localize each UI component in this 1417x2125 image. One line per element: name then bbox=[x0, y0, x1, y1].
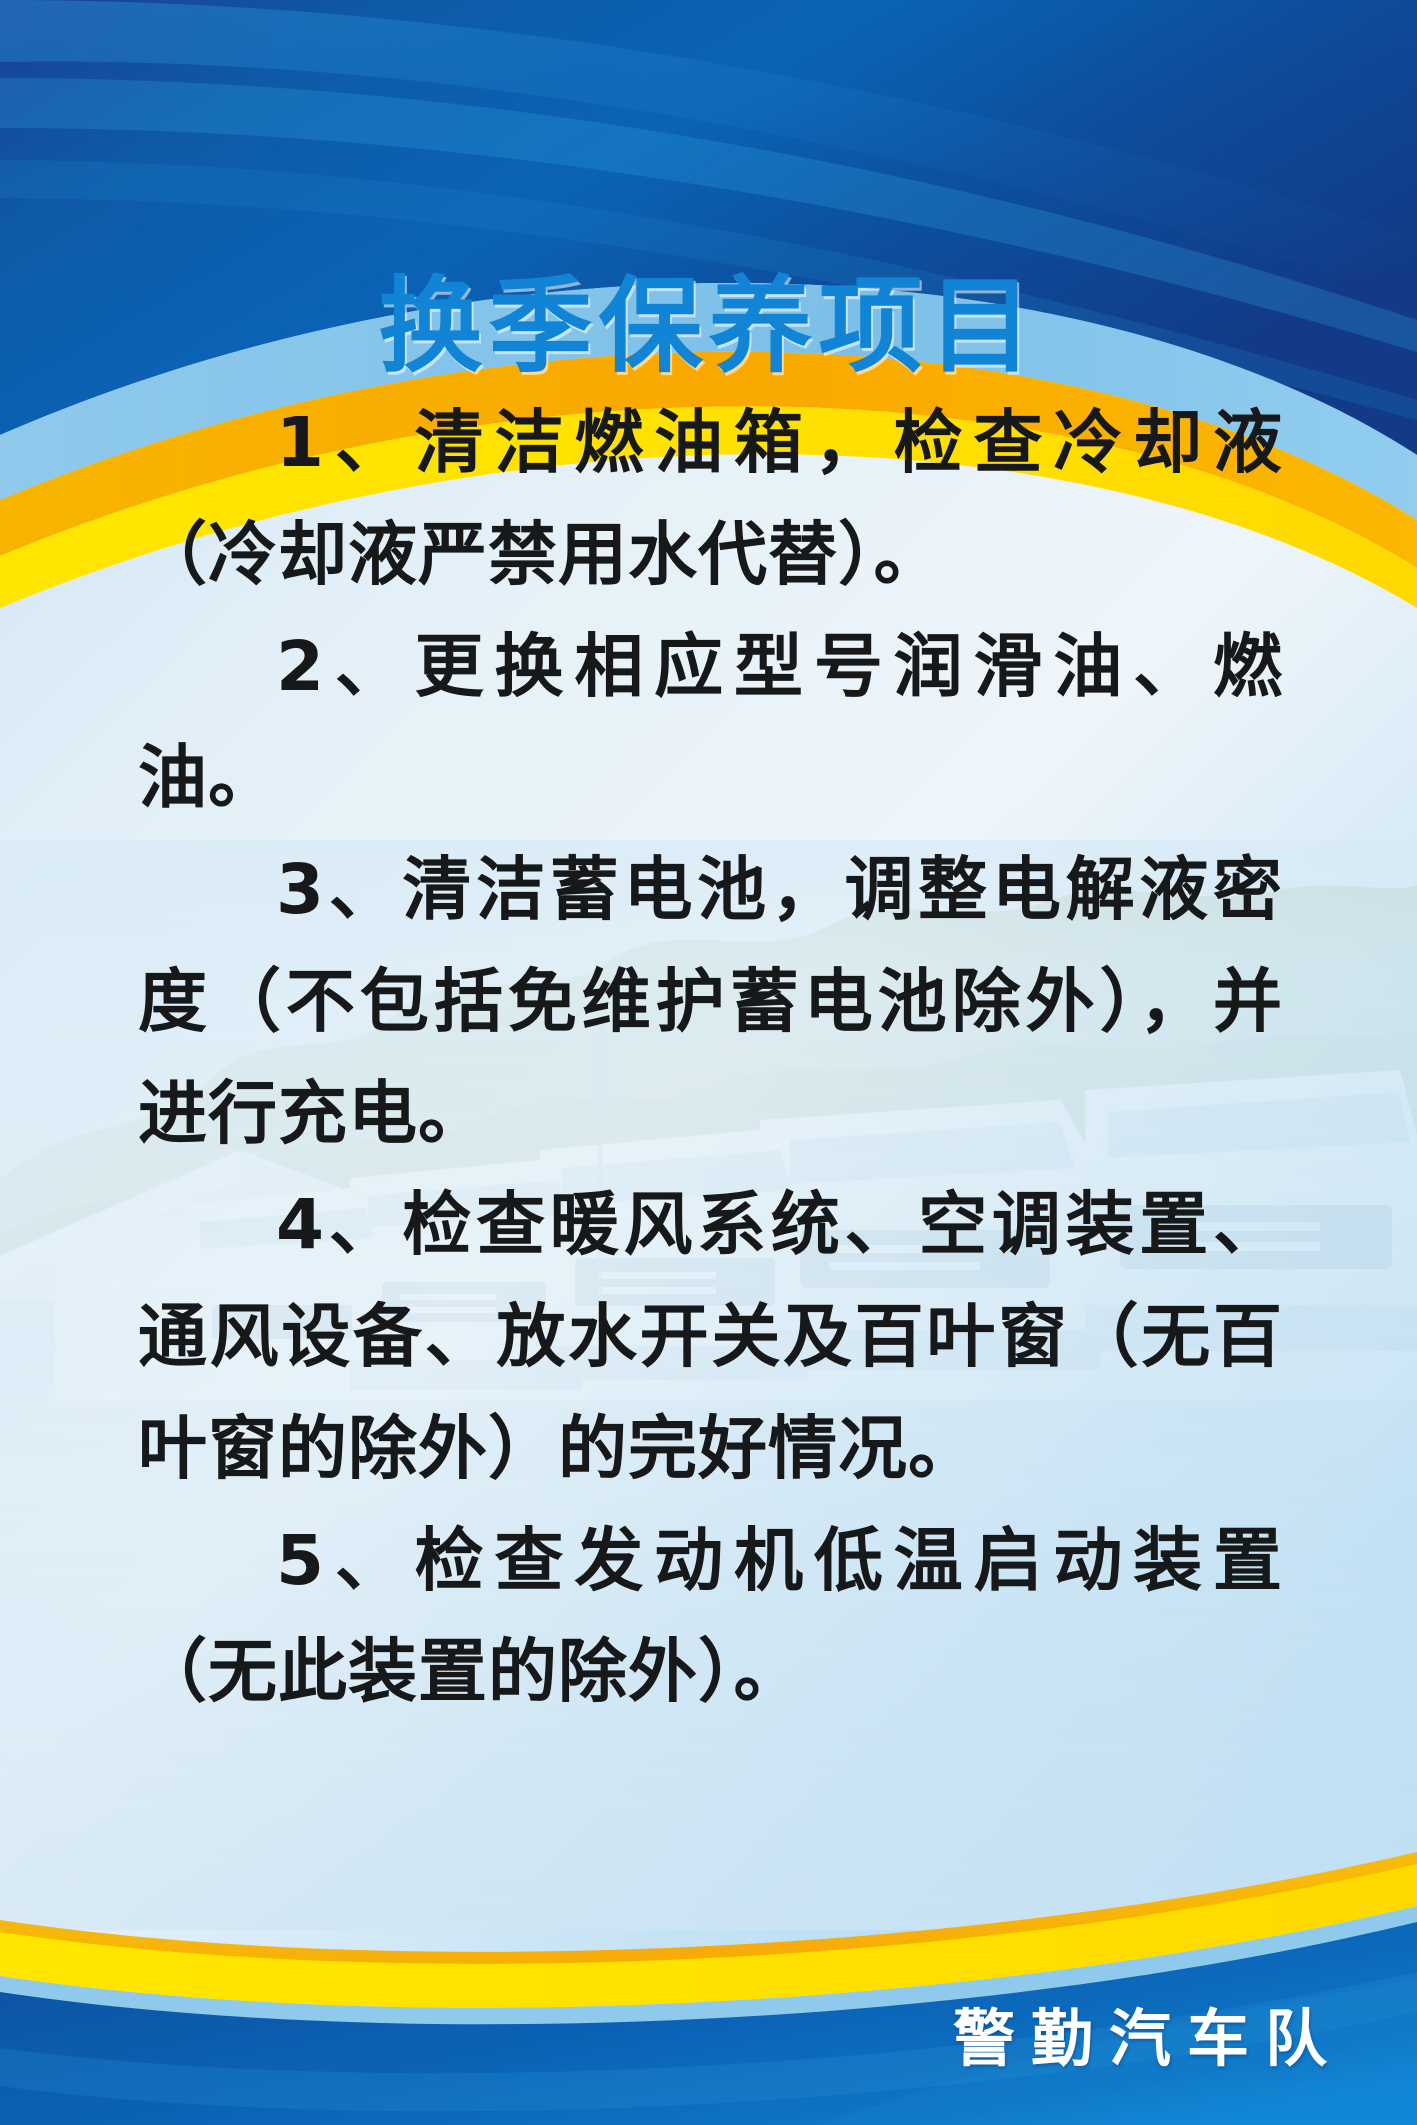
maintenance-item-list: 1、清洁燃油箱，检查冷却液（冷却液严禁用水代替）。 2、更换相应型号润滑油、燃油… bbox=[138, 388, 1283, 1729]
list-item: 1、清洁燃油箱，检查冷却液（冷却液严禁用水代替）。 bbox=[138, 388, 1283, 612]
page-title: 换季保养项目 bbox=[0, 268, 1417, 384]
list-item: 5、检查发动机低温启动装置（无此装置的除外）。 bbox=[138, 1506, 1283, 1730]
list-item: 2、更换相应型号润滑油、燃油。 bbox=[138, 612, 1283, 836]
list-item: 3、清洁蓄电池，调整电解液密度（不包括免维护蓄电池除外），并进行充电。 bbox=[138, 835, 1283, 1170]
list-item: 4、检查暖风系统、空调装置、通风设备、放水开关及百叶窗（无百叶窗的除外）的完好情… bbox=[138, 1170, 1283, 1505]
poster-content: 换季保养项目 1、清洁燃油箱，检查冷却液（冷却液严禁用水代替）。 2、更换相应型… bbox=[0, 0, 1417, 2125]
poster-root: 换季保养项目 1、清洁燃油箱，检查冷却液（冷却液严禁用水代替）。 2、更换相应型… bbox=[0, 0, 1417, 2125]
organization-name: 警勤汽车队 bbox=[953, 1988, 1343, 2078]
